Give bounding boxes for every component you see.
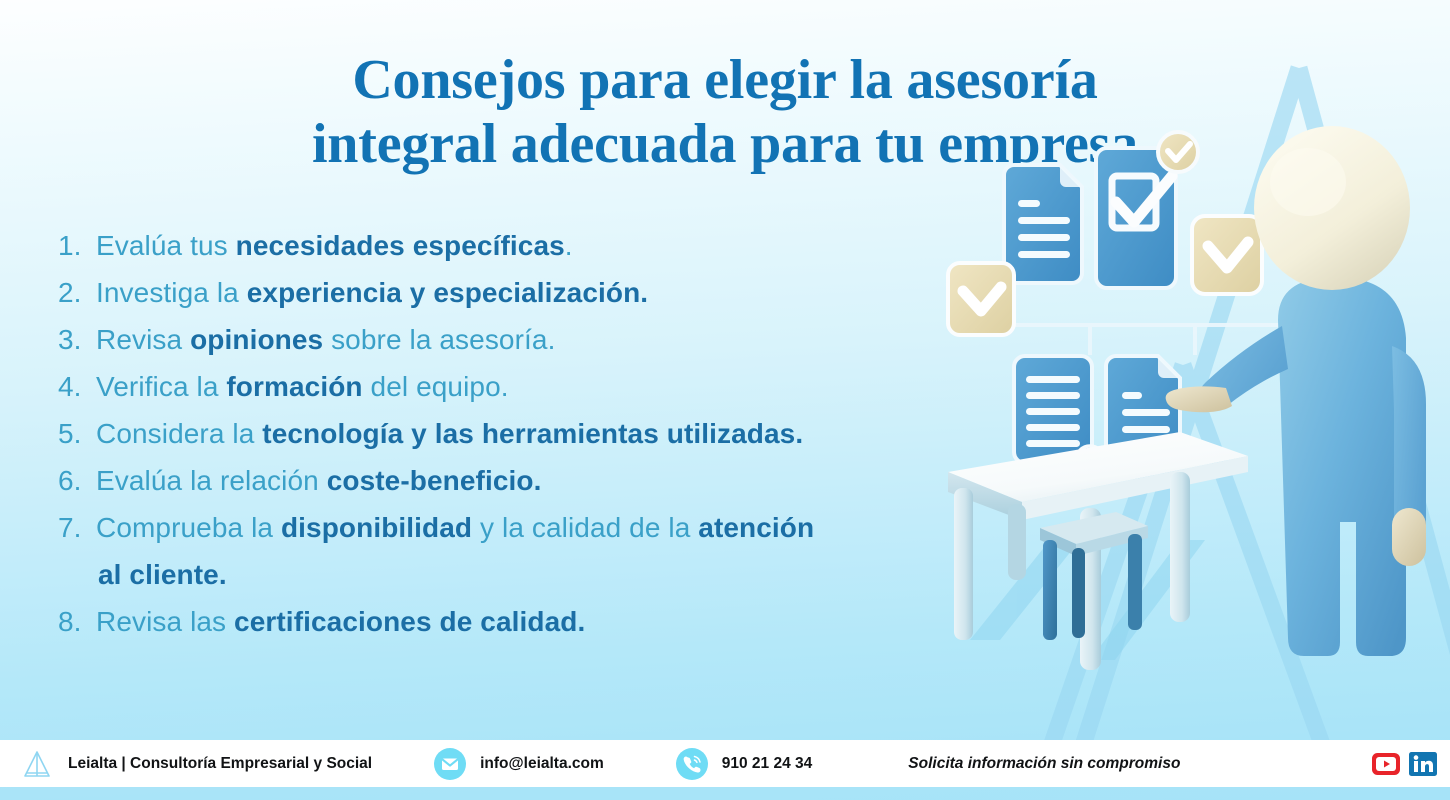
- check-badge-icon: [1158, 132, 1198, 172]
- footer-social: [1371, 749, 1438, 779]
- illustration-3d-scene: [930, 120, 1450, 740]
- email-text[interactable]: info@leialta.com: [480, 755, 604, 773]
- footer-email[interactable]: info@leialta.com: [434, 748, 604, 780]
- tip-bold: tecnología y las herramientas utilizadas…: [262, 418, 803, 449]
- footer-phone[interactable]: 910 21 24 34: [676, 748, 813, 780]
- list-item-text: Evalúa tus necesidades específicas.: [96, 222, 958, 269]
- list-item-continuation: al cliente.: [58, 551, 958, 598]
- list-item-text: Verifica la formación del equipo.: [96, 363, 958, 410]
- phone-text[interactable]: 910 21 24 34: [722, 755, 813, 773]
- envelope-icon[interactable]: [434, 748, 466, 780]
- list-item-text: Revisa opiniones sobre la asesoría.: [96, 316, 958, 363]
- list-item-text: Evalúa la relación coste-beneficio.: [96, 457, 958, 504]
- phone-icon[interactable]: [676, 748, 708, 780]
- tip-bold: necesidades específicas: [236, 230, 565, 261]
- list-item-text: Revisa las certificaciones de calidad.: [96, 598, 958, 645]
- tip-prefix: Comprueba la: [96, 512, 281, 543]
- list-item: 6. Evalúa la relación coste-beneficio.: [58, 457, 958, 504]
- tip-bold: formación: [226, 371, 362, 402]
- tip-bold-2: atención: [698, 512, 814, 543]
- tip-prefix: Verifica la: [96, 371, 226, 402]
- footer-brand: Leialta | Consultoría Empresarial y Soci…: [22, 748, 372, 780]
- check-card-yellow-2: [1192, 216, 1262, 294]
- tip-prefix: Evalúa la relación: [96, 465, 327, 496]
- list-item-text: al cliente.: [96, 551, 958, 598]
- footer-bar: Leialta | Consultoría Empresarial y Soci…: [0, 740, 1450, 787]
- list-item: 2. Investiga la experiencia y especializ…: [58, 269, 958, 316]
- tip-bold: coste-beneficio.: [327, 465, 542, 496]
- tip-prefix: Investiga la: [96, 277, 247, 308]
- tip-bold: disponibilidad: [281, 512, 472, 543]
- infographic-canvas: Consejos para elegir la asesoría integra…: [0, 0, 1450, 800]
- leialta-triangle-logo: [22, 748, 52, 780]
- title-line-1: Consejos para elegir la asesoría: [0, 48, 1450, 112]
- list-item-number: 1.: [58, 222, 96, 269]
- list-item-text: Comprueba la disponibilidad y la calidad…: [96, 504, 958, 551]
- tip-suffix: .: [565, 230, 573, 261]
- list-item: 7. Comprueba la disponibilidad y la cali…: [58, 504, 958, 551]
- tip-prefix: Revisa las: [96, 606, 234, 637]
- list-item-number: 5.: [58, 410, 96, 457]
- list-item: 3. Revisa opiniones sobre la asesoría.: [58, 316, 958, 363]
- list-item: 4. Verifica la formación del equipo.: [58, 363, 958, 410]
- tip-prefix: Considera la: [96, 418, 262, 449]
- list-item: 5. Considera la tecnología y las herrami…: [58, 410, 958, 457]
- tip-bold: al cliente.: [98, 559, 227, 590]
- list-item-number: 8.: [58, 598, 96, 645]
- tip-bold: opiniones: [190, 324, 323, 355]
- list-item-number: 6.: [58, 457, 96, 504]
- tips-list: 1. Evalúa tus necesidades específicas. 2…: [58, 222, 958, 645]
- tip-suffix: del equipo.: [363, 371, 509, 402]
- tip-bold: certificaciones de calidad.: [234, 606, 585, 637]
- tip-suffix: y la calidad de la: [472, 512, 698, 543]
- tip-prefix: Revisa: [96, 324, 190, 355]
- list-item-number: 2.: [58, 269, 96, 316]
- connector-lines: [992, 325, 1280, 355]
- checklist-card: [1096, 148, 1176, 288]
- tip-suffix: sobre la asesoría.: [323, 324, 555, 355]
- linkedin-icon[interactable]: [1408, 749, 1438, 779]
- youtube-icon[interactable]: [1371, 749, 1401, 779]
- tip-prefix: Evalúa tus: [96, 230, 236, 261]
- cta-text: Solicita información sin compromiso: [908, 755, 1180, 773]
- list-item-text: Investiga la experiencia y especializaci…: [96, 269, 958, 316]
- check-card-yellow: [948, 263, 1014, 335]
- footer-cta: Solicita información sin compromiso: [908, 755, 1180, 773]
- list-item-number: 3.: [58, 316, 96, 363]
- list-item-text: Considera la tecnología y las herramient…: [96, 410, 958, 457]
- list-item-number: 7.: [58, 504, 96, 551]
- document-card: [1004, 165, 1082, 283]
- list-item: 8. Revisa las certificaciones de calidad…: [58, 598, 958, 645]
- list-item-number: 4.: [58, 363, 96, 410]
- 3d-figure-pointing: [1166, 126, 1426, 656]
- tip-bold: experiencia y especialización.: [247, 277, 648, 308]
- list-item: 1. Evalúa tus necesidades específicas.: [58, 222, 958, 269]
- brand-text: Leialta | Consultoría Empresarial y Soci…: [68, 755, 372, 773]
